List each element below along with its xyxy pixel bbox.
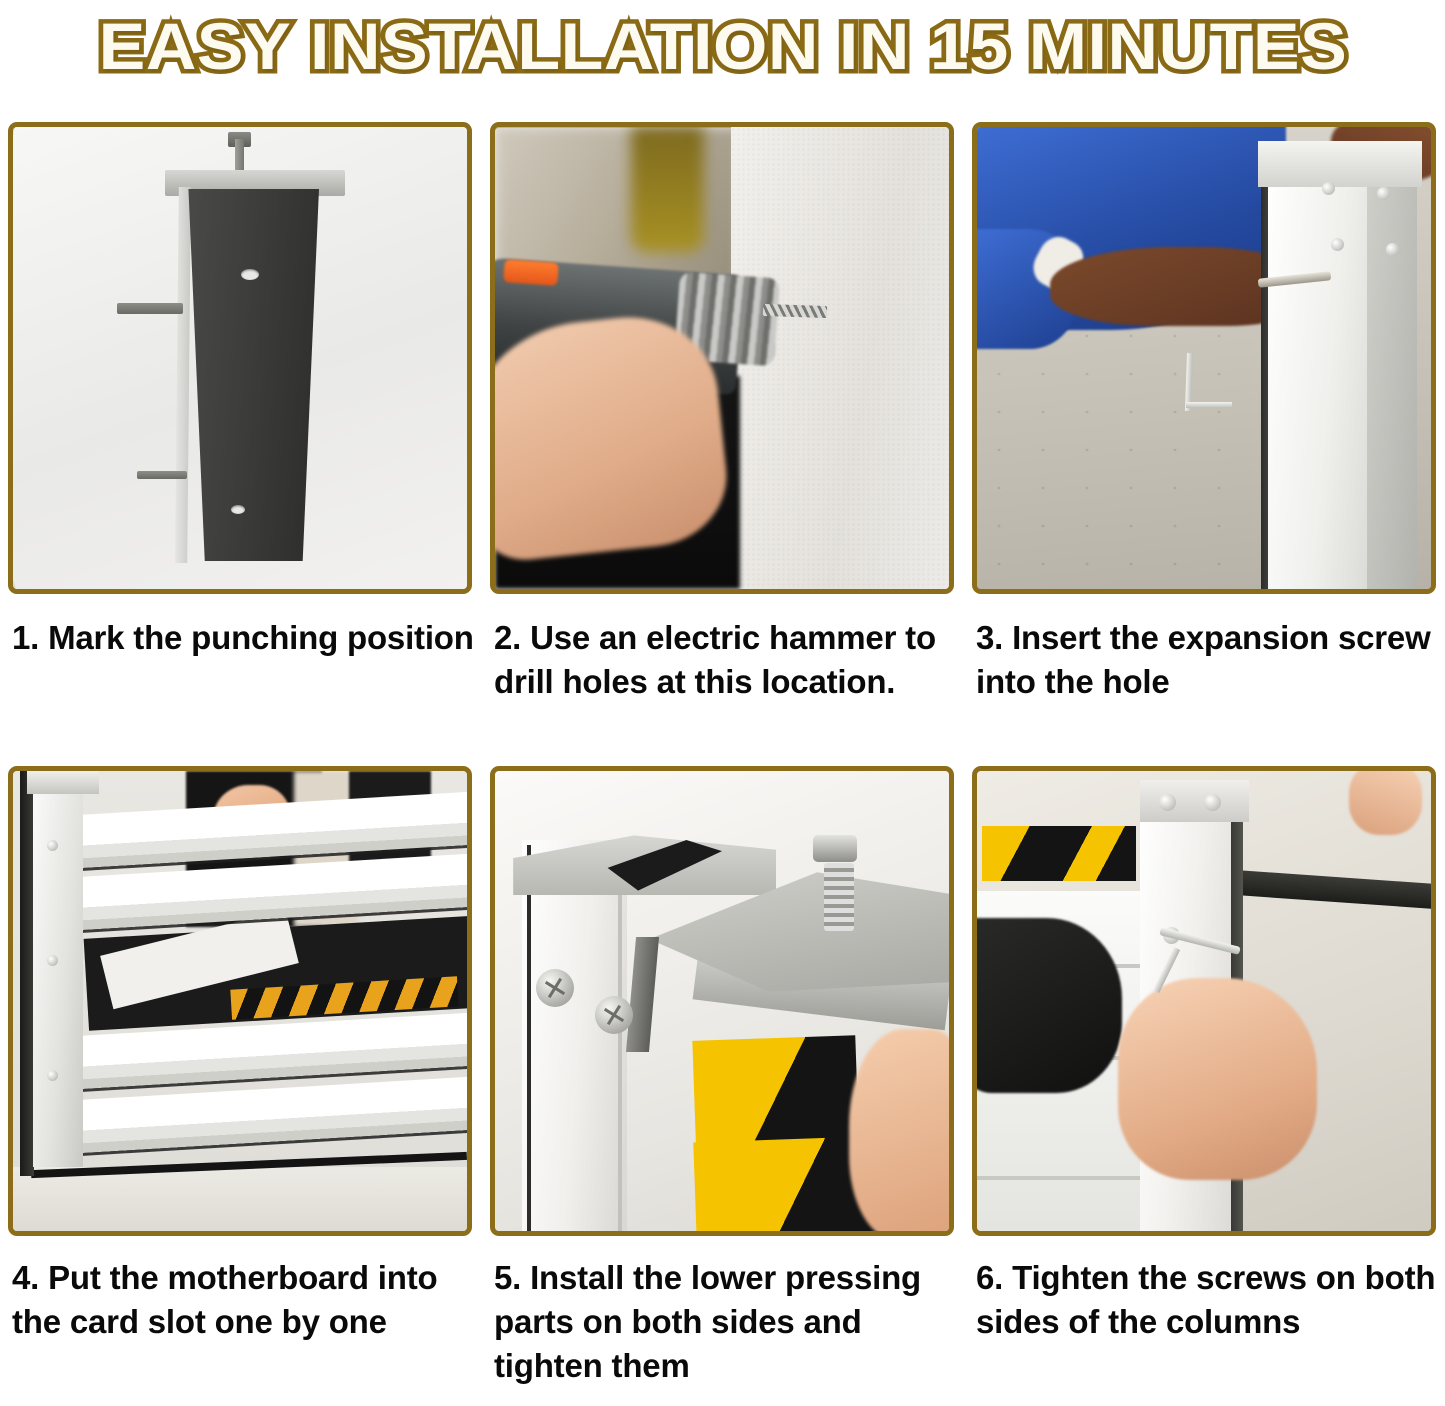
hazard-stripe-panel xyxy=(982,826,1136,881)
step-image-3 xyxy=(972,122,1436,594)
allen-key-horizontal xyxy=(1186,402,1232,408)
bolt-head xyxy=(813,835,857,862)
step-card-5: 5. Install the lower pressing parts on b… xyxy=(490,766,960,1406)
hand-with-wrench xyxy=(1118,978,1318,1180)
column-screw-a xyxy=(47,840,58,851)
column-edge-dark xyxy=(527,845,531,1231)
bracket-screw-1 xyxy=(536,969,574,1007)
page-title: EASY INSTALLATION IN 15 MINUTES xyxy=(98,8,1347,84)
step-image-1 xyxy=(8,122,472,594)
mounting-post xyxy=(183,189,319,561)
column-side-face xyxy=(1367,155,1417,589)
step-caption-6: 6. Tighten the screws on both sides of t… xyxy=(976,1256,1438,1406)
white-column-body xyxy=(522,840,626,1231)
bolt-shaft-upper xyxy=(117,303,183,314)
header-banner: EASY INSTALLATION IN 15 MINUTES xyxy=(0,0,1445,88)
step-image-2 xyxy=(490,122,954,594)
step-card-3: 3. Insert the expansion screw into the h… xyxy=(972,122,1442,766)
step-image-6 xyxy=(972,766,1436,1236)
post-hole-upper xyxy=(241,269,259,280)
bolt-thread xyxy=(824,863,854,931)
step-image-5 xyxy=(490,766,954,1236)
hand-gripping-drill xyxy=(495,308,733,564)
step-caption-2: 2. Use an electric hammer to drill holes… xyxy=(494,616,956,766)
post-hole-lower xyxy=(231,505,245,514)
step-image-4 xyxy=(8,766,472,1236)
step-caption-3: 3. Insert the expansion screw into the h… xyxy=(976,616,1438,766)
blurred-object xyxy=(631,127,704,252)
step-card-1: 1. Mark the punching position xyxy=(8,122,478,766)
column-cap xyxy=(27,771,100,794)
column-screw-c xyxy=(47,1070,58,1081)
drill-bit xyxy=(763,304,827,318)
step-caption-4: 4. Put the motherboard into the card slo… xyxy=(12,1256,474,1406)
floor-surface xyxy=(13,1167,467,1231)
black-sleeve xyxy=(977,918,1122,1093)
installation-steps-grid: 1. Mark the punching position 2. Use an … xyxy=(8,122,1438,1406)
step-card-2: 2. Use an electric hammer to drill holes… xyxy=(490,122,960,766)
column-top-cap xyxy=(1140,780,1249,821)
column-screw-top-2 xyxy=(1204,794,1221,811)
hand-holding-part xyxy=(849,1029,949,1231)
column-card-slot xyxy=(33,771,83,1167)
column-screw-2 xyxy=(1377,187,1390,200)
column-screw-3 xyxy=(1331,238,1344,251)
column-top-plate xyxy=(1258,141,1421,187)
bracket-screw-2 xyxy=(595,996,633,1034)
step-card-4: 4. Put the motherboard into the card slo… xyxy=(8,766,478,1406)
white-column xyxy=(1268,155,1382,589)
second-hand xyxy=(1349,771,1422,835)
step-caption-1: 1. Mark the punching position xyxy=(12,616,474,766)
step-caption-5: 5. Install the lower pressing parts on b… xyxy=(494,1256,956,1406)
column-screw-4 xyxy=(1386,243,1399,256)
bolt-shaft-lower xyxy=(137,471,187,479)
panel-seam-3 xyxy=(977,1176,1140,1180)
column-screw-top-1 xyxy=(1159,794,1176,811)
column-edge-light xyxy=(618,845,622,1231)
step-card-6: 6. Tighten the screws on both sides of t… xyxy=(972,766,1442,1406)
column-screw-b xyxy=(47,955,58,966)
drill-trigger xyxy=(503,259,559,286)
column-dark-edge xyxy=(20,771,35,1176)
